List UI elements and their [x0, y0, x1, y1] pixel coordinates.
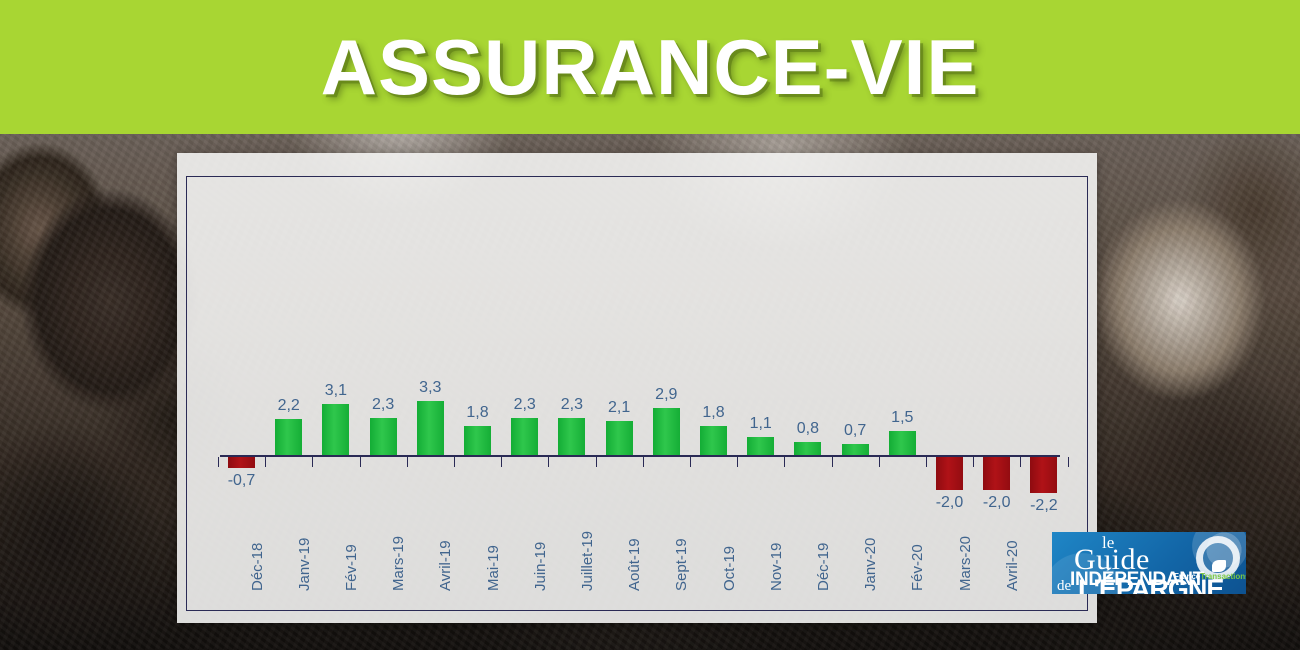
x-axis-label: Fév-19 [343, 544, 360, 591]
bar-chart: -0,7Déc-182,2Janv-193,1Fév-192,3Mars-193… [186, 176, 1088, 611]
bar-f-v-19 [322, 404, 349, 455]
axis-tick [737, 457, 738, 467]
x-axis-label: Sept-19 [673, 538, 690, 591]
axis-tick [312, 457, 313, 467]
axis-tick [879, 457, 880, 467]
axis-tick [454, 457, 455, 467]
x-axis-label: Nov-19 [768, 543, 785, 591]
axis-tick [784, 457, 785, 467]
axis-tick [360, 457, 361, 467]
bar-value-label: 3,3 [402, 379, 458, 397]
screenshot-root: ASSURANCE-VIE -0,7Déc-182,2Janv-193,1Fév… [0, 0, 1300, 650]
bar-mai-20 [1030, 457, 1057, 493]
bar-janv-20 [842, 444, 869, 455]
axis-tick [643, 457, 644, 467]
logo-site-transactions: Transactions [1200, 572, 1246, 581]
logo-guide-independant-epargne[interactable]: le Guide de INDÉPENDANT L'ÉPARGNE France… [1052, 532, 1246, 594]
bar-value-label: -2,2 [1016, 497, 1072, 515]
logo-leaf-icon [1212, 560, 1226, 572]
bar-nov-19 [747, 437, 774, 455]
x-axis-label: Mars-20 [957, 536, 974, 591]
bar-janv-19 [275, 419, 302, 455]
axis-tick [1068, 457, 1069, 467]
bar-ao-t-19 [606, 421, 633, 455]
bar-avril-20 [983, 457, 1010, 490]
axis-tick [548, 457, 549, 467]
bar-juin-19 [511, 418, 538, 455]
axis-tick [973, 457, 974, 467]
axis-tick [1020, 457, 1021, 467]
x-axis-label: Janv-19 [296, 538, 313, 591]
bar-mai-19 [464, 426, 491, 455]
axis-tick [926, 457, 927, 467]
axis-tick [596, 457, 597, 467]
bar-d-c-19 [794, 442, 821, 455]
bar-oct-19 [700, 426, 727, 455]
page-title: ASSURANCE-VIE [321, 22, 980, 113]
x-axis-label: Avril-19 [437, 540, 454, 591]
bar-avril-19 [417, 401, 444, 455]
x-axis-label: Oct-19 [721, 546, 738, 591]
x-axis-label: Déc-18 [249, 543, 266, 591]
x-axis-label: Juillet-19 [579, 531, 596, 591]
axis-tick [265, 457, 266, 467]
axis-tick [218, 457, 219, 467]
zero-axis-line [220, 455, 1060, 457]
x-axis-label: Déc-19 [815, 543, 832, 591]
axis-tick [832, 457, 833, 467]
bar-f-v-20 [889, 431, 916, 455]
x-axis-label: Mai-19 [485, 545, 502, 591]
axis-tick [690, 457, 691, 467]
x-axis-label: Avril-20 [1004, 540, 1021, 591]
x-axis-label: Août-19 [626, 538, 643, 591]
axis-tick [407, 457, 408, 467]
bar-mars-19 [370, 418, 397, 455]
title-banner: ASSURANCE-VIE [0, 0, 1300, 134]
bar-value-label: 1,5 [874, 409, 930, 427]
x-axis-label: Juin-19 [532, 542, 549, 591]
bar-value-label: 2,9 [638, 386, 694, 404]
x-axis-label: Fév-20 [909, 544, 926, 591]
axis-tick [501, 457, 502, 467]
logo-site-france: France [1174, 572, 1200, 581]
bar-value-label: 2,3 [355, 396, 411, 414]
bar-sept-19 [653, 408, 680, 455]
bar-value-label: -0,7 [214, 472, 270, 490]
x-axis-label: Mars-19 [390, 536, 407, 591]
bar-d-c-18 [228, 457, 255, 468]
bar-juillet-19 [558, 418, 585, 455]
logo-site-url: FranceTransactions.com [1174, 572, 1246, 581]
bar-mars-20 [936, 457, 963, 490]
x-axis-label: Janv-20 [862, 538, 879, 591]
